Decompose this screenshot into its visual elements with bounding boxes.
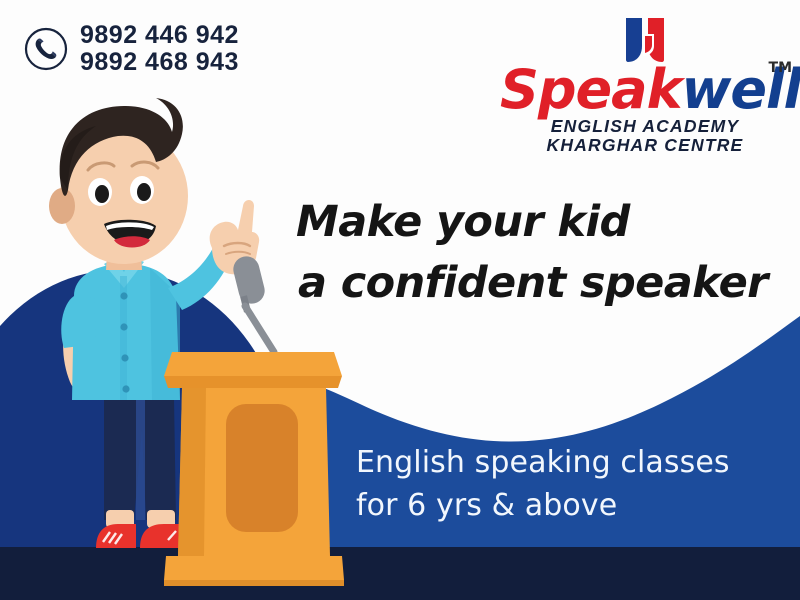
- logo-tagline-line-2: KHARGHAR CENTRE: [500, 136, 790, 156]
- phone-number-1[interactable]: 9892 446 942: [80, 22, 239, 49]
- subheadline: English speaking classes for 6 yrs & abo…: [356, 442, 786, 527]
- subheadline-line-1: English speaking classes: [356, 442, 786, 485]
- logo-wordmark: Speakwell TM: [500, 64, 790, 116]
- phone-number-list: 9892 446 942 9892 468 943: [80, 22, 239, 76]
- subheadline-line-2: for 6 yrs & above: [356, 485, 786, 528]
- promo-poster: 9892 446 942 9892 468 943 Speakwell TM E…: [0, 0, 800, 600]
- wooden-podium: [164, 352, 344, 586]
- brand-logo[interactable]: Speakwell TM ENGLISH ACADEMY KHARGHAR CE…: [500, 16, 790, 156]
- contact-block: 9892 446 942 9892 468 943: [24, 22, 239, 76]
- phone-icon: [24, 27, 68, 71]
- floor-band: [0, 547, 800, 600]
- logo-word-speak: Speak: [500, 58, 682, 121]
- headline-line-2: a confident speaker: [298, 253, 776, 314]
- logo-tagline: ENGLISH ACADEMY KHARGHAR CENTRE: [500, 117, 790, 156]
- headline-line-1: Make your kid: [296, 192, 776, 253]
- phone-number-2[interactable]: 9892 468 943: [80, 49, 239, 76]
- headline: Make your kid a confident speaker: [296, 192, 776, 314]
- trademark-symbol: TM: [769, 62, 792, 75]
